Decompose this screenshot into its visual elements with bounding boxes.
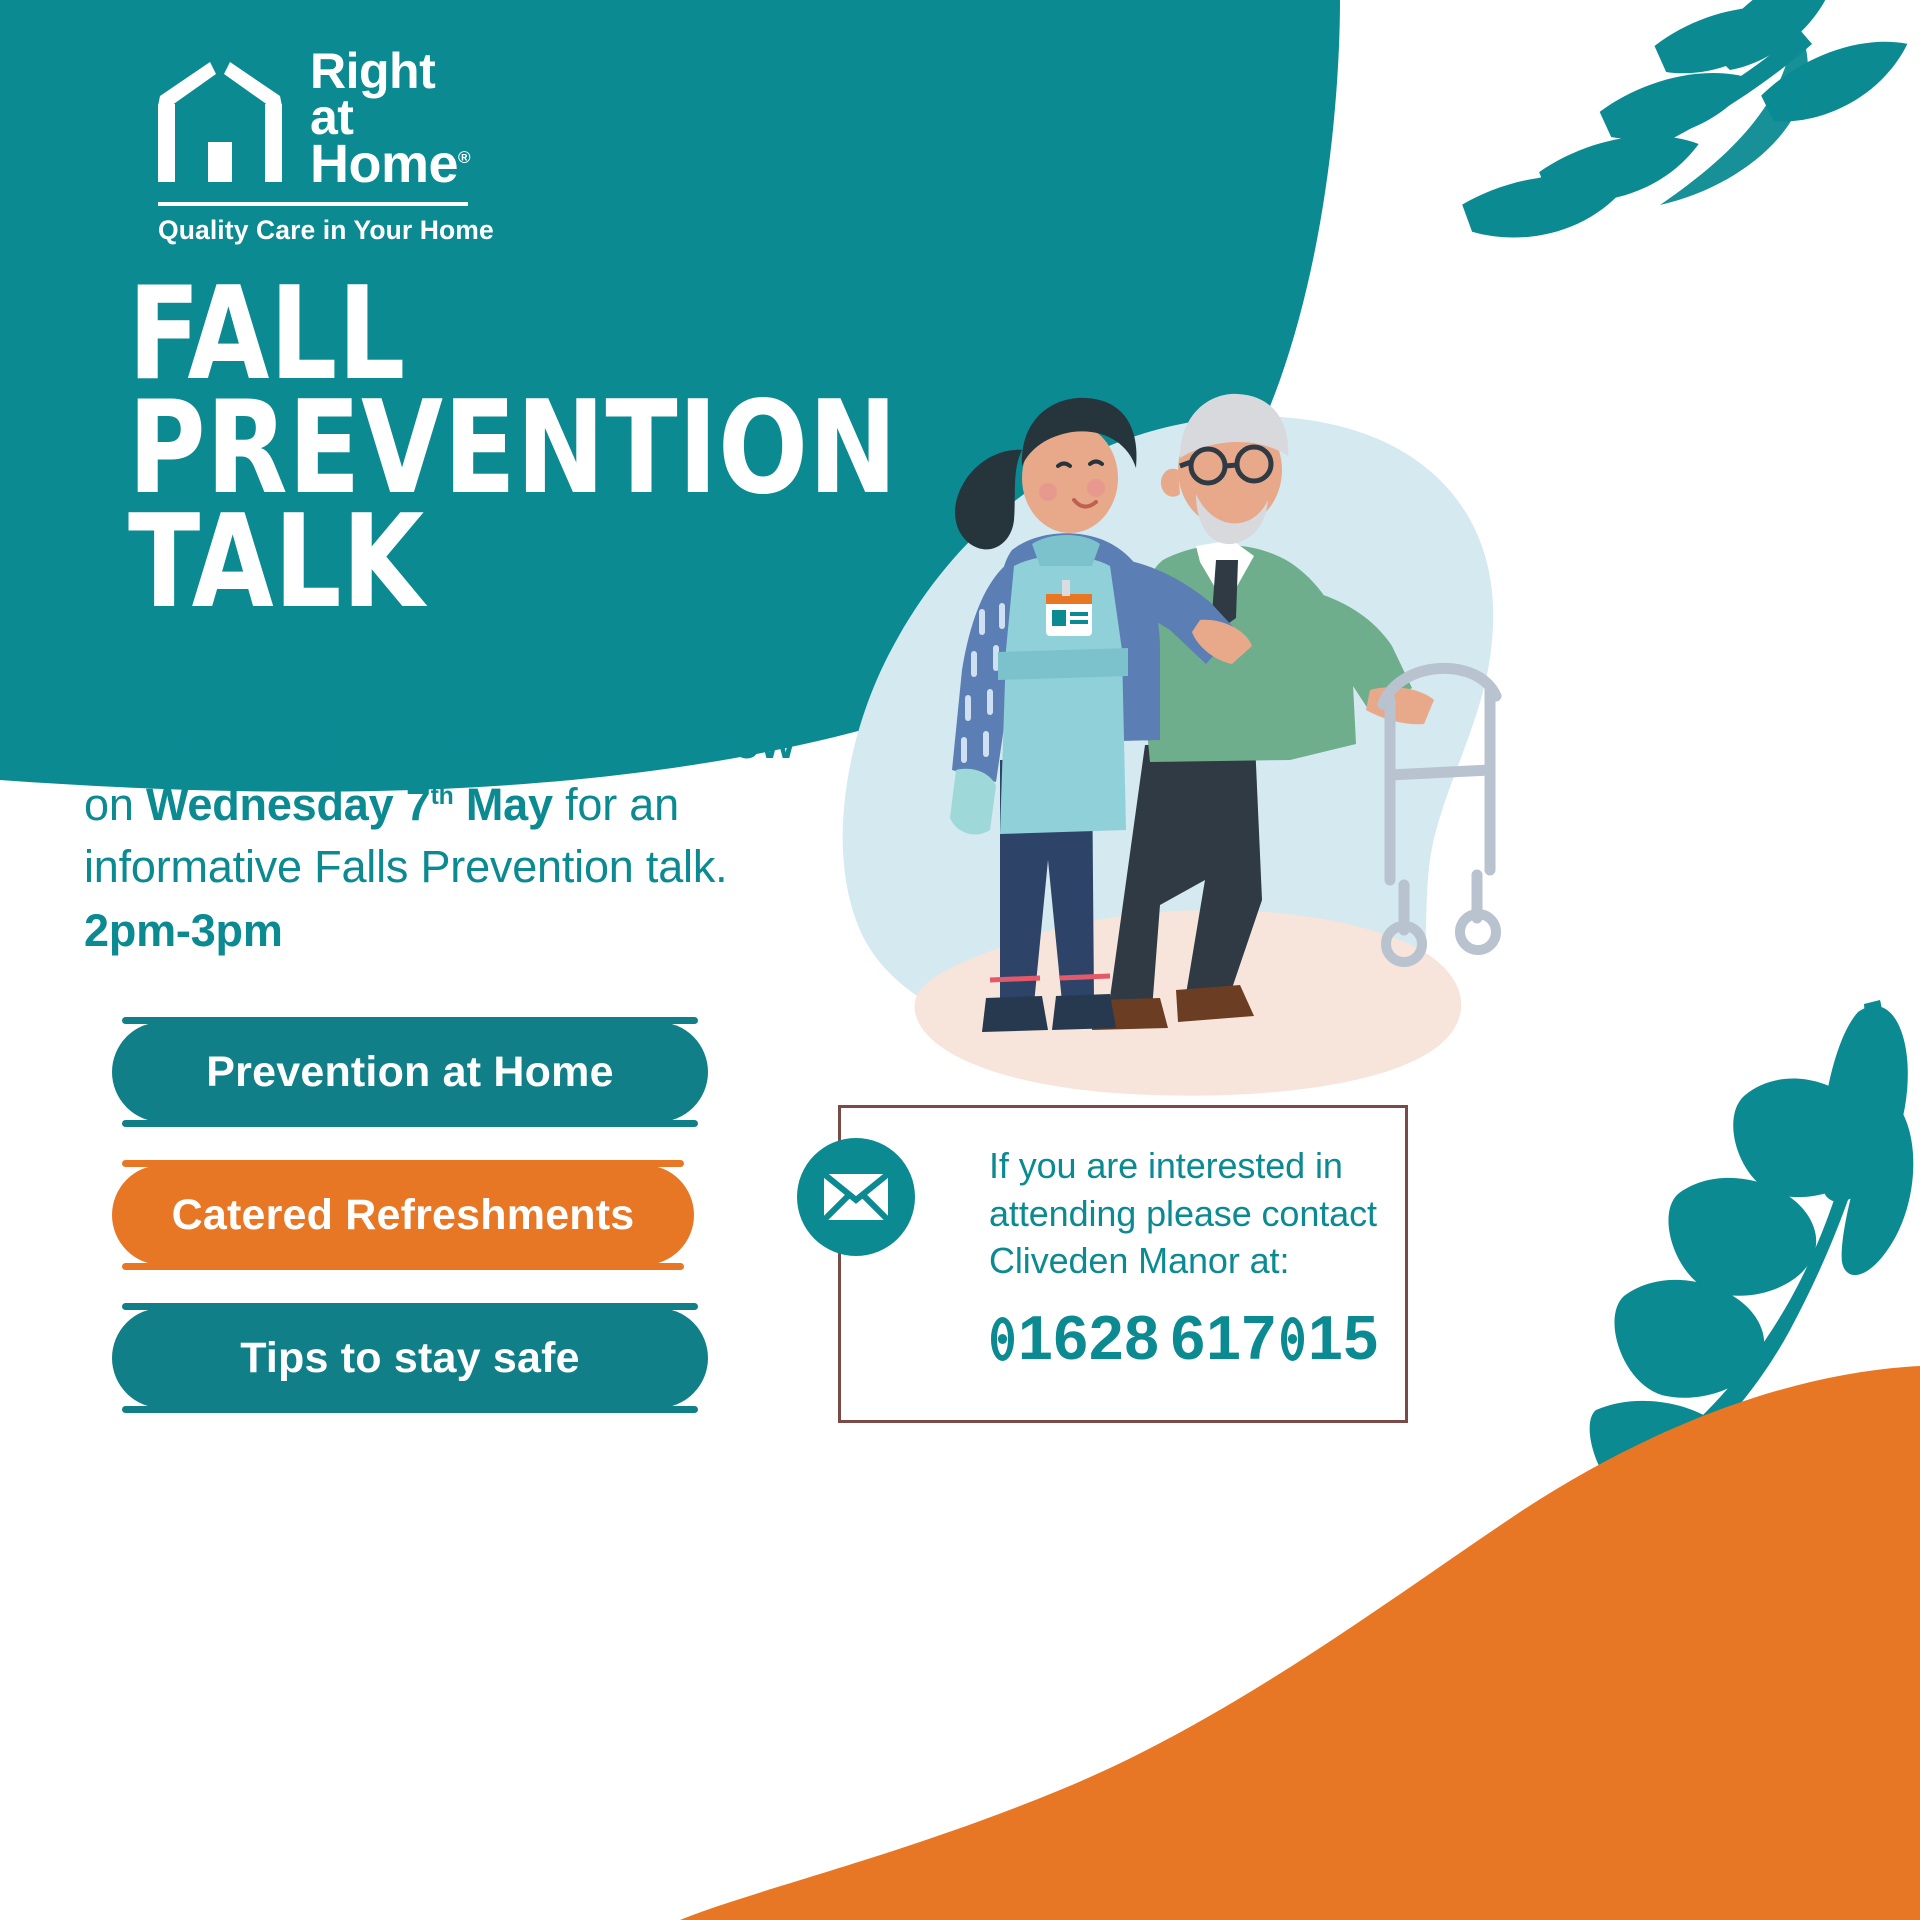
pill-prevention-at-home[interactable]: Prevention at Home bbox=[112, 1022, 708, 1122]
body-for-an-text: for an bbox=[553, 779, 679, 830]
brand-wordmark: Right at Home® bbox=[310, 48, 470, 190]
brand-name-line3: Home® bbox=[310, 140, 470, 190]
event-date-month: May bbox=[454, 779, 553, 830]
venue-name: Cliveden Manor, Marlow bbox=[287, 717, 795, 768]
brand-name-home: Home bbox=[310, 134, 458, 194]
pill-label: Prevention at Home bbox=[206, 1048, 613, 1097]
pill-label: Tips to stay safe bbox=[240, 1334, 580, 1383]
contact-line-3: Cliveden Manor at: bbox=[989, 1237, 1379, 1285]
page-title: FALL PREVENTION TALK bbox=[128, 278, 898, 620]
logo-divider bbox=[158, 202, 468, 206]
brand-name-line1: Right bbox=[310, 48, 470, 94]
brand-logo: Right at Home® Quality Care in Your Home bbox=[150, 48, 570, 246]
event-description: Join us at Cliveden Manor, Marlow on Wed… bbox=[84, 712, 844, 962]
contact-instructions: If you are interested in attending pleas… bbox=[989, 1142, 1379, 1285]
pill-catered-refreshments[interactable]: Catered Refreshments bbox=[112, 1165, 694, 1265]
contact-line-1: If you are interested in bbox=[989, 1142, 1379, 1190]
pill-tips-to-stay-safe[interactable]: Tips to stay safe bbox=[112, 1308, 708, 1408]
brand-tagline: Quality Care in Your Home bbox=[158, 215, 570, 246]
event-date: Wednesday 7th May bbox=[146, 779, 553, 830]
leaf-branch-top-right bbox=[1460, 0, 1920, 243]
body-join-text: Join us at bbox=[84, 717, 287, 768]
phone-zero-glyph bbox=[1281, 1317, 1304, 1360]
contact-phone-number[interactable]: 162861715 bbox=[989, 1303, 1379, 1374]
event-time: 2pm-3pm bbox=[84, 900, 844, 962]
phone-digits-a: 1628 bbox=[1018, 1303, 1160, 1374]
poster-canvas: Right at Home® Quality Care in Your Home… bbox=[0, 0, 1920, 1920]
envelope-icon bbox=[797, 1138, 915, 1256]
phone-digits-b: 617 bbox=[1171, 1303, 1277, 1374]
feature-pill-list: Prevention at Home Catered Refreshments … bbox=[112, 1022, 732, 1451]
envelope-glyph bbox=[822, 1172, 890, 1222]
contact-box: If you are interested in attending pleas… bbox=[838, 1105, 1408, 1423]
house-outline-icon bbox=[150, 60, 290, 190]
pill-label: Catered Refreshments bbox=[172, 1191, 635, 1240]
contact-line-2: attending please contact bbox=[989, 1190, 1379, 1238]
body-on-text: on bbox=[84, 779, 146, 830]
ordinal-suffix: th bbox=[431, 783, 454, 810]
orange-bottom-shape bbox=[680, 1366, 1920, 1920]
phone-digits-c: 15 bbox=[1308, 1303, 1379, 1374]
event-date-day: Wednesday 7 bbox=[146, 779, 431, 830]
phone-zero-glyph bbox=[991, 1317, 1014, 1360]
body-talk-text: informative Falls Prevention talk. bbox=[84, 841, 727, 892]
registered-mark: ® bbox=[458, 148, 470, 167]
